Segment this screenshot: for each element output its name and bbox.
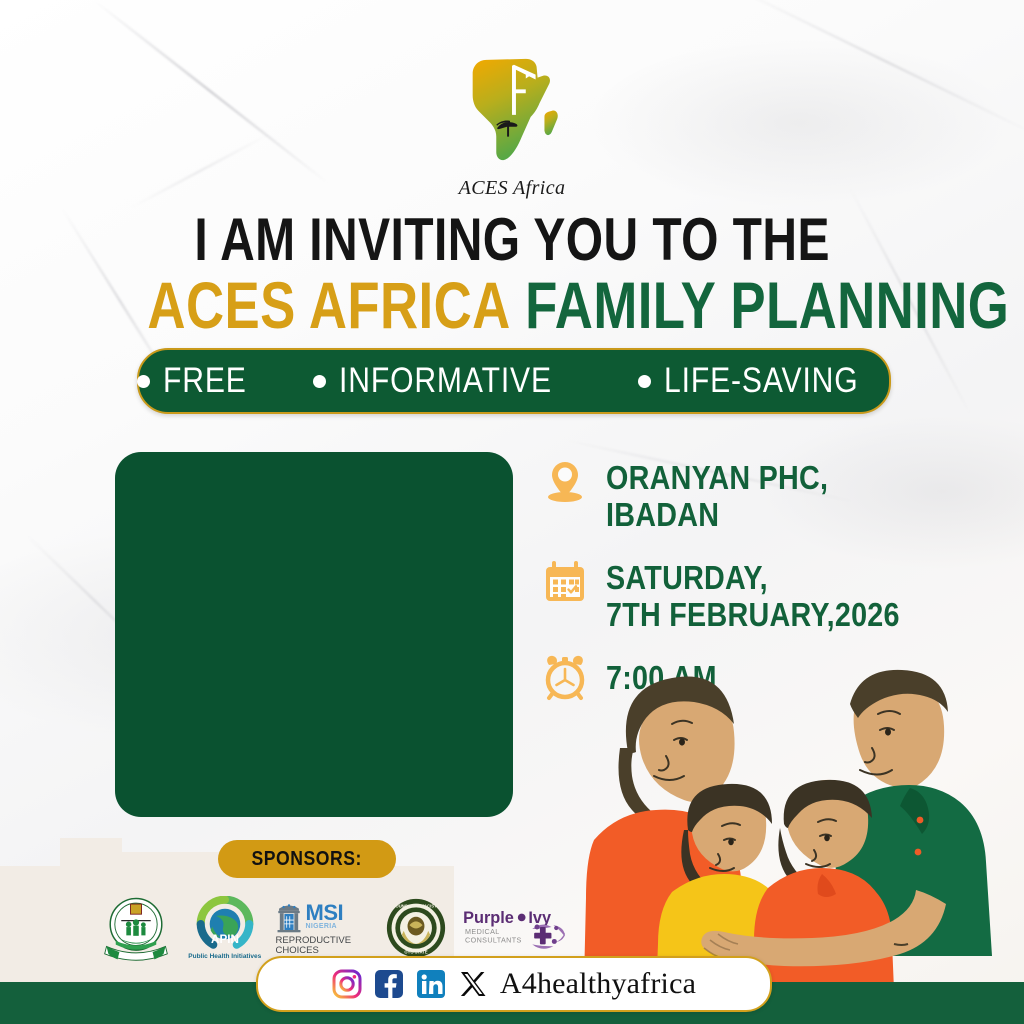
facebook-icon[interactable] [374,969,404,999]
sponsor-logos: APIN Public Health Initiatives MSI [98,892,568,964]
headline-brand-text: ACES AFRICA [147,268,510,342]
features-pill: FREE INFORMATIVE LIFE-SAVING [137,348,891,414]
headline-event-text: FAMILY PLANNING OUTREACH [525,268,1024,342]
detail-row-date: SATURDAY, 7TH FEBRUARY,2026 [540,552,960,634]
calendar-icon [540,558,590,608]
feature-item-free: FREE [137,361,260,401]
detail-location-text: ORANYAN PHC, IBADAN [606,452,914,534]
msi-nigeria-reproductive-choices-logo: MSI NIGERIA REPRODUCTIVE CHOICES [276,893,371,963]
young-pharmacists-nigeria-oyo-state-logo: YOUNG PHARMACISTS OYO STATE [383,893,449,963]
svg-text:OYO STATE: OYO STATE [404,949,427,954]
bullet-dot-icon [638,375,651,388]
svg-text:Purple: Purple [463,909,514,927]
feature-label-informative: INFORMATIVE [339,361,552,401]
x-twitter-icon[interactable] [458,969,488,999]
svg-text:Ivy: Ivy [529,909,552,927]
sponsors-badge: SPONSORS: [218,840,396,878]
svg-text:MEDICAL: MEDICAL [465,927,500,936]
feature-item-informative: INFORMATIVE [313,361,587,401]
headline-line-1: I AM INVITING YOU TO THE [0,210,1024,270]
instagram-icon[interactable] [332,969,362,999]
poster-canvas: ACES Africa I AM INVITING YOU TO THE ACE… [0,0,1024,1024]
feature-label-life-saving: LIFE-SAVING [664,361,859,401]
purple-ivy-medical-consultants-logo: Purple Ivy MEDICAL CONSULTANTS [461,893,568,963]
detail-row-location: ORANYAN PHC, IBADAN [540,452,960,534]
social-bar[interactable]: A4healthyafrica [256,956,772,1012]
linkedin-icon[interactable] [416,969,446,999]
family-illustration [554,652,1024,982]
headline-line-2: ACES AFRICAFAMILY PLANNING OUTREACH [0,272,1024,338]
location-pin-icon [540,456,590,506]
feature-label-free: FREE [163,361,247,401]
svg-text:YOUNG PHARMACISTS: YOUNG PHARMACISTS [393,903,440,908]
headline-line-1-text: I AM INVITING YOU TO THE [194,210,829,270]
svg-text:APIN: APIN [211,933,239,946]
oyo-state-primary-health-care-board-logo [98,893,174,963]
sponsors-badge-label: SPONSORS: [252,848,362,871]
apin-public-health-initiatives-logo: APIN Public Health Initiatives [186,893,264,963]
svg-text:CONSULTANTS: CONSULTANTS [465,935,522,944]
event-photo-placeholder [115,452,513,817]
brand-logo-name: ACES Africa [0,177,1024,200]
bullet-dot-icon [313,375,326,388]
feature-item-life-saving: LIFE-SAVING [638,361,890,401]
africa-map-logo-icon [453,52,571,170]
social-handle: A4healthyafrica [500,967,696,1001]
detail-date-text: SATURDAY, 7TH FEBRUARY,2026 [606,552,900,634]
brand-logo: ACES Africa [0,52,1024,200]
bullet-dot-icon [137,375,150,388]
